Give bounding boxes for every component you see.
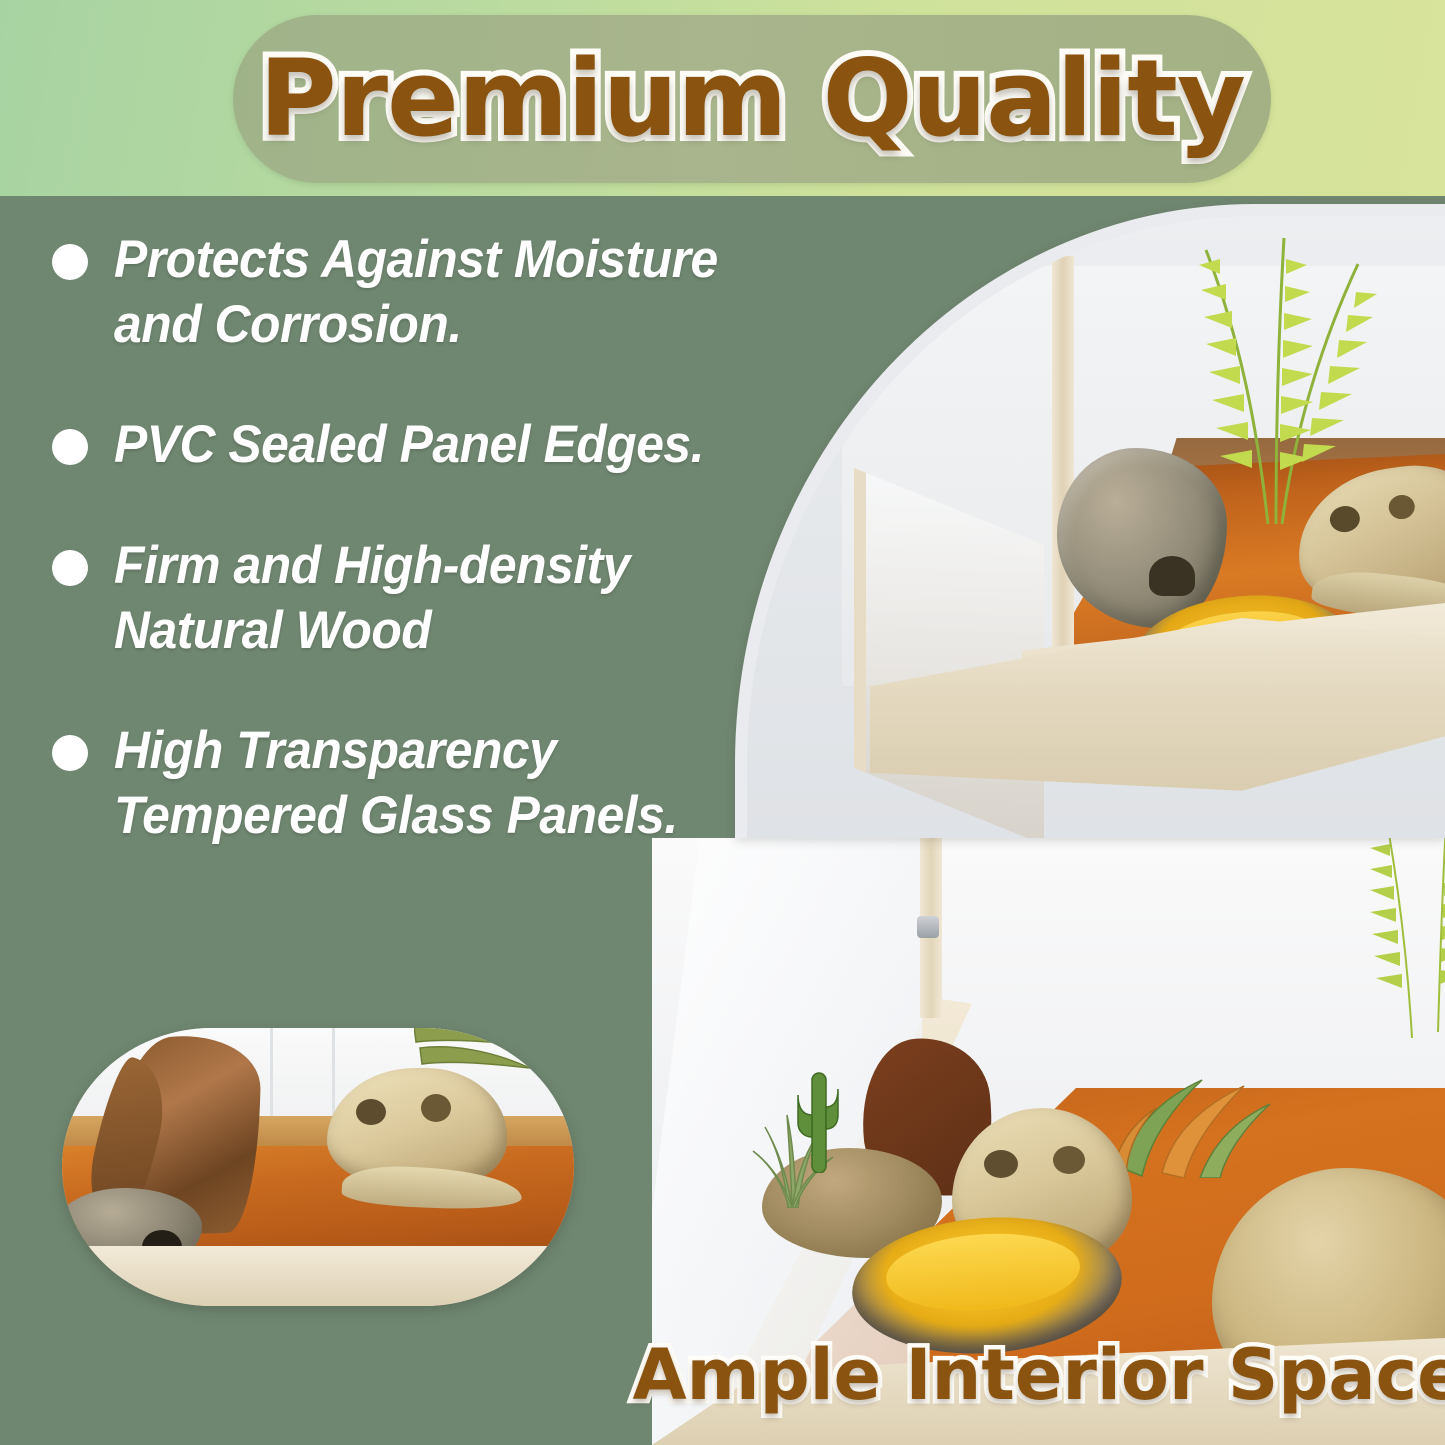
list-item: PVC Sealed Panel Edges. (52, 413, 842, 478)
wood-base-panel (62, 1246, 574, 1306)
list-item: Firm and High-density Natural Wood (52, 534, 842, 663)
infographic-page: Premium Quality (0, 0, 1445, 1445)
leaf-decor (414, 1028, 534, 1090)
bottom-photo-caption: Ample Interior Space (652, 1332, 1445, 1418)
dot-bullet-icon (52, 244, 88, 280)
terrarium-corner-scene (842, 238, 1445, 828)
dot-bullet-icon (52, 429, 88, 465)
feature-text: High Transparency Tempered Glass Panels. (114, 719, 798, 848)
foliage-decor-right (1102, 1028, 1272, 1178)
page-title: Premium Quality (233, 15, 1271, 183)
dot-bullet-icon (52, 735, 88, 771)
door-knob-icon (917, 916, 939, 938)
list-item: Protects Against Moisture and Corrosion. (52, 228, 842, 357)
dot-bullet-icon (52, 550, 88, 586)
fern-decor-right (1342, 838, 1445, 1038)
feature-text: Protects Against Moisture and Corrosion. (114, 228, 798, 357)
feature-text: PVC Sealed Panel Edges. (114, 413, 704, 478)
feature-text: Firm and High-density Natural Wood (114, 534, 798, 663)
cactus-decor (792, 1063, 844, 1173)
feature-list: Protects Against Moisture and Corrosion.… (52, 228, 842, 849)
wood-corner-post (1052, 256, 1074, 686)
photo-top-inner-frame (747, 216, 1445, 838)
glass-seam-line (270, 1028, 273, 1123)
list-item: High Transparency Tempered Glass Panels. (52, 719, 842, 848)
header-band: Premium Quality (0, 0, 1445, 197)
photo-driftwood-skull-oval (62, 1028, 574, 1306)
